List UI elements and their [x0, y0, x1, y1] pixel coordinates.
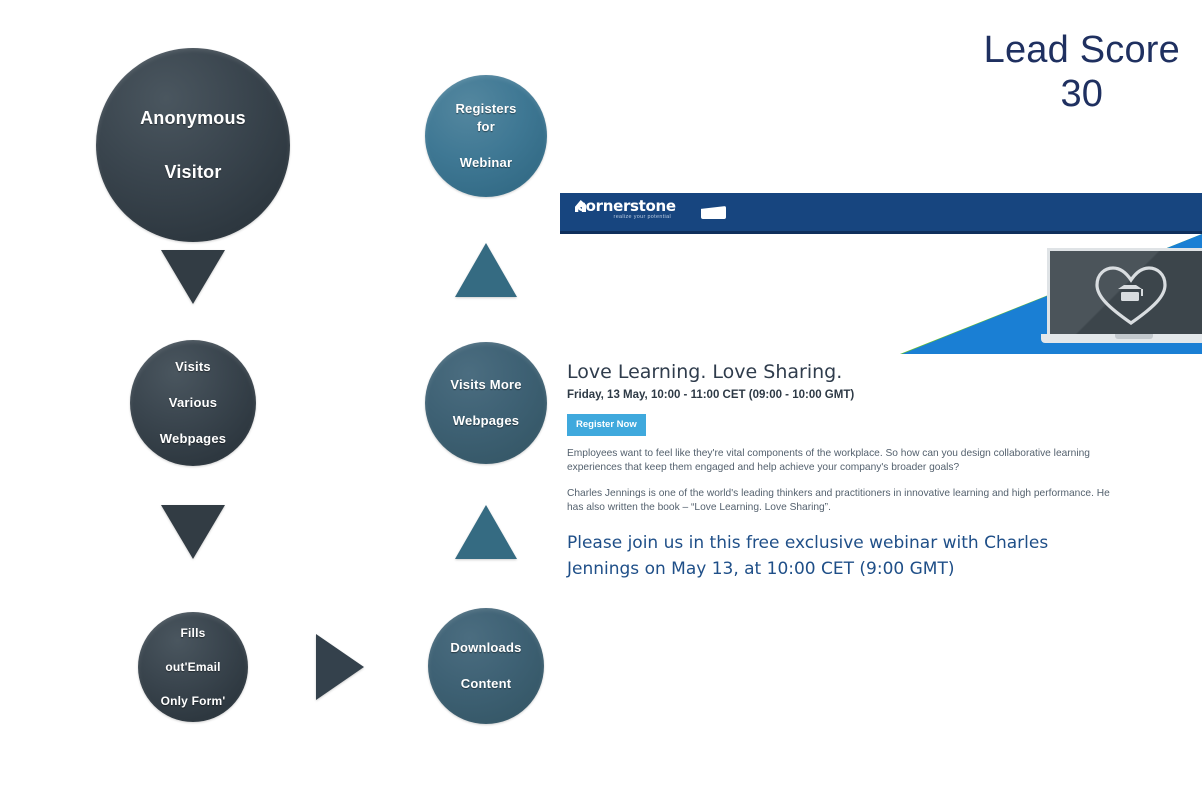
flow-node-visits-more-webpages[interactable]: Visits MoreWebpages	[425, 342, 547, 464]
flow-node-label: DownloadsContent	[430, 639, 541, 693]
flow-node-registers-for-webinar[interactable]: Registers forWebinar	[425, 75, 547, 197]
logo-tagline: realize your potential	[577, 214, 673, 221]
email-heading: Please join us in this free exclusive we…	[567, 530, 1067, 582]
flow-node-label: VisitsVariousWebpages	[140, 358, 246, 448]
webinar-email-preview: cornerstone realize your potential	[560, 193, 1202, 585]
laptop-notch	[1115, 334, 1153, 339]
lead-score-label: Lead Score	[984, 29, 1180, 71]
email-header-bar: cornerstone realize your potential	[560, 193, 1202, 234]
banner-shape-icon	[701, 206, 726, 219]
flow-node-visits-various-webpages[interactable]: VisitsVariousWebpages	[130, 340, 256, 466]
email-title: Love Learning. Love Sharing.	[567, 360, 1202, 384]
flow-node-label: AnonymousVisitor	[120, 105, 266, 186]
email-hero-graphic	[560, 234, 1202, 354]
arrow-down-icon	[161, 505, 225, 559]
email-paragraph: Charles Jennings is one of the world's l…	[567, 487, 1127, 516]
email-date: Friday, 13 May, 10:00 - 11:00 CET (09:00…	[567, 387, 1202, 403]
slide-canvas: Lead Score 30 AnonymousVisitor VisitsVar…	[0, 0, 1202, 802]
arrow-right-icon	[316, 634, 364, 700]
laptop-icon	[1047, 248, 1202, 350]
laptop-screen	[1047, 248, 1202, 334]
email-body: Love Learning. Love Sharing. Friday, 13 …	[560, 354, 1202, 585]
flow-node-label: Registers forWebinar	[425, 100, 547, 172]
arrow-up-icon	[455, 505, 517, 559]
cornerstone-logo[interactable]: cornerstone realize your potential	[577, 199, 673, 225]
flow-node-label: Fillsout'EmailOnly Form'	[141, 625, 246, 710]
logo-wordmark: cornerstone	[577, 199, 673, 214]
lead-score-value: 30	[984, 72, 1180, 116]
heart-graduation-cap-icon	[1094, 265, 1168, 327]
flow-node-anonymous-visitor[interactable]: AnonymousVisitor	[96, 48, 290, 242]
lead-score-display: Lead Score 30	[984, 28, 1180, 116]
register-now-button[interactable]: Register Now	[567, 414, 646, 436]
flow-node-fills-out-email-only-form[interactable]: Fillsout'EmailOnly Form'	[138, 612, 248, 722]
flow-node-label: Visits MoreWebpages	[430, 376, 541, 430]
arrow-up-icon	[455, 243, 517, 297]
email-paragraph: Employees want to feel like they're vita…	[567, 447, 1127, 476]
arrow-down-icon	[161, 250, 225, 304]
flow-node-downloads-content[interactable]: DownloadsContent	[428, 608, 544, 724]
